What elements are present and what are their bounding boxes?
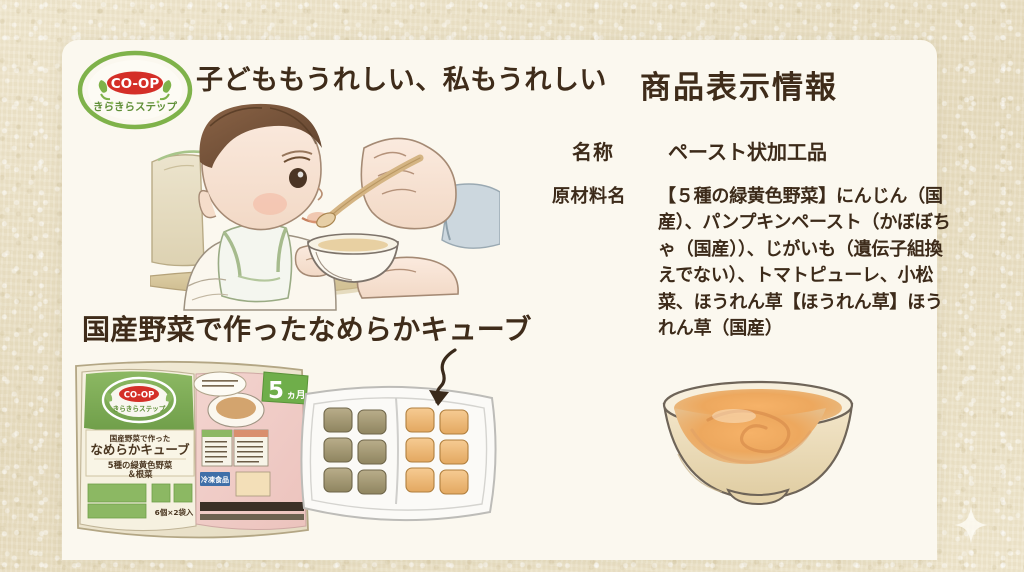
page-title: 商品表示情報 (640, 62, 838, 107)
info-row-name: 名称 ペースト状加工品 (572, 136, 827, 165)
package-logo-text: CO-OP (124, 391, 155, 401)
package-line2: なめらかキューブ (90, 442, 190, 457)
frozen-label: 冷凍食品 (201, 475, 229, 484)
package-line4: ＆根菜 (127, 469, 153, 479)
sparkle-icon (954, 506, 988, 544)
curved-down-arrow-icon (425, 348, 471, 410)
value-ingredients: 【５種の緑黄色野菜】にんじん（国産）、パンプキンペースト（かぼぼちゃ（国産））、… (658, 184, 952, 343)
value-name: ペースト状加工品 (668, 136, 827, 165)
baby-being-fed-illustration (150, 100, 500, 315)
product-package-illustration: CO-OP きらきらステップ 国産野菜で作った なめらかキューブ 5種の緑黄色野… (68, 358, 318, 543)
headline-top: 子どももうれしい、私もうれしい (196, 58, 607, 97)
bowl-of-orange-puree-illustration (648, 358, 868, 513)
logo-coop-text: CO-OP (111, 76, 160, 92)
age-badge-number: 5 (268, 378, 284, 404)
label-ingredients: 原材料名 (552, 184, 658, 210)
package-quantity: 6個×2袋入 (155, 508, 194, 517)
package-logo-subtext: きらきらステップ (113, 404, 166, 413)
info-row-ingredients: 原材料名 【５種の緑黄色野菜】にんじん（国産）、パンプキンペースト（かぼぼちゃ（… (552, 184, 952, 343)
label-name: 名称 (572, 136, 668, 165)
